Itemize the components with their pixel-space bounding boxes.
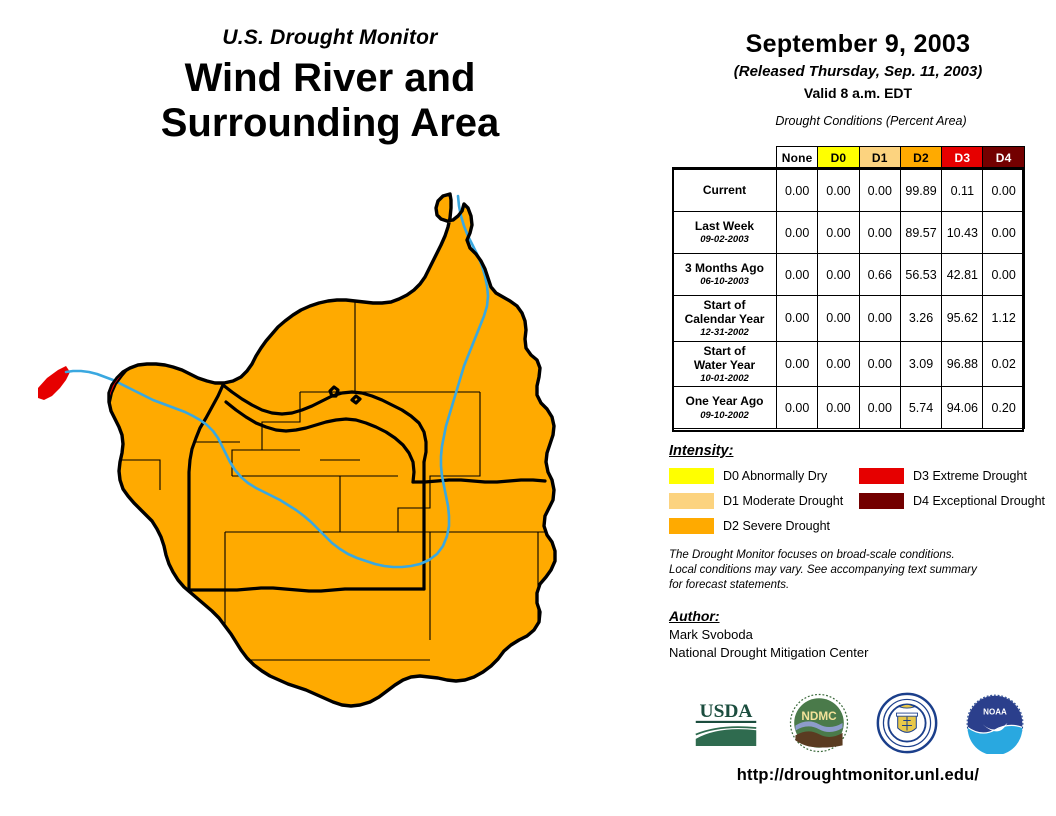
program-title: U.S. Drought Monitor [0,26,660,50]
cell-current-d2: 99.89 [900,170,941,212]
drought-conditions-table-wrap: None D0 D1 D2 D3 D4 Current 0.00 0.00 0.… [672,146,1024,429]
cell-wateryear-d1: 0.00 [859,341,900,387]
disclaimer-text: The Drought Monitor focuses on broad-sca… [669,548,1056,594]
author-title: Author: [669,608,1056,624]
cell-calyear-d1: 0.00 [859,296,900,342]
noaa-logo: NOAA [964,692,1026,754]
column-header-d4: D4 [983,147,1024,170]
cell-3months-d3: 42.81 [942,254,983,296]
table-row: Start of Calendar Year 12-31-2002 0.00 0… [673,296,1025,342]
author-organization: National Drought Mitigation Center [669,645,1056,660]
ndmc-logo: NDMC [788,692,850,754]
legend-item-d2: D2 Severe Drought [669,515,859,536]
cell-lastweek-d2: 89.57 [900,212,941,254]
cell-3months-d0: 0.00 [818,254,859,296]
legend-item-d0: D0 Abnormally Dry [669,465,859,486]
doc-seal-logo [876,692,938,754]
table-row: Current 0.00 0.00 0.00 99.89 0.11 0.00 [673,170,1025,212]
legend-label-d1: D1 Moderate Drought [723,494,843,508]
row-label-date: 12-31-2002 [677,327,772,338]
legend-label-d2: D2 Severe Drought [723,519,830,533]
cell-3months-none: 0.00 [777,254,818,296]
cell-lastweek-d4: 0.00 [983,212,1024,254]
drought-map [0,160,660,720]
cell-oneyear-d4: 0.20 [983,387,1024,429]
row-label-text: One Year Ago [685,394,763,408]
author-name: Mark Svoboda [669,627,1056,642]
cell-3months-d1: 0.66 [859,254,900,296]
date-block: September 9, 2003 (Released Thursday, Se… [660,0,1056,101]
legend-grid: D0 Abnormally Dry D3 Extreme Drought D1 … [669,465,1056,536]
row-label-start-calendar-year: Start of Calendar Year 12-31-2002 [673,296,777,342]
release-date: (Released Thursday, Sep. 11, 2003) [660,63,1056,80]
drought-conditions-table: None D0 D1 D2 D3 D4 Current 0.00 0.00 0.… [672,146,1025,429]
page-title: Wind River and Surrounding Area [0,56,660,146]
title-block: U.S. Drought Monitor Wind River and Surr… [0,26,660,146]
cell-wateryear-d4: 0.02 [983,341,1024,387]
cell-lastweek-d1: 0.00 [859,212,900,254]
cell-current-d4: 0.00 [983,170,1024,212]
cell-current-d1: 0.00 [859,170,900,212]
legend-spacer [859,515,1056,536]
map-artwork [0,160,660,720]
region-title-line2: Surrounding Area [0,101,660,146]
column-header-none: None [777,147,818,170]
row-label-text-line1: Start of [704,344,746,358]
cell-calyear-d4: 1.12 [983,296,1024,342]
legend-swatch-d0 [669,468,714,484]
header-corner-blank [673,147,777,170]
row-label-date: 09-02-2003 [677,234,772,245]
logo-row: USDA NDMC NOAA [660,690,1056,756]
row-label-current: Current [673,170,777,212]
cell-wateryear-d3: 96.88 [942,341,983,387]
row-label-date: 06-10-2003 [677,276,772,287]
cell-oneyear-none: 0.00 [777,387,818,429]
website-url[interactable]: http://droughtmonitor.unl.edu/ [660,766,1056,785]
column-header-d0: D0 [818,147,859,170]
row-label-text-line2: Calendar Year [685,312,765,326]
table-row: 3 Months Ago 06-10-2003 0.00 0.00 0.66 5… [673,254,1025,296]
table-header-row: None D0 D1 D2 D3 D4 [673,147,1025,170]
cell-lastweek-none: 0.00 [777,212,818,254]
column-header-d1: D1 [859,147,900,170]
cell-3months-d4: 0.00 [983,254,1024,296]
legend-item-d3: D3 Extreme Drought [859,465,1056,486]
row-label-date: 10-01-2002 [677,373,772,384]
legend-item-d4: D4 Exceptional Drought [859,490,1056,511]
cell-current-d0: 0.00 [818,170,859,212]
cell-oneyear-d0: 0.00 [818,387,859,429]
region-title-line1: Wind River and [0,56,660,101]
cell-lastweek-d0: 0.00 [818,212,859,254]
table-caption: Drought Conditions (Percent Area) [660,114,1056,128]
cell-current-none: 0.00 [777,170,818,212]
legend-label-d0: D0 Abnormally Dry [723,469,827,483]
legend-swatch-d3 [859,468,904,484]
legend-swatch-d4 [859,493,904,509]
row-label-text: Current [703,183,746,197]
cell-oneyear-d3: 94.06 [942,387,983,429]
noaa-logo-text: NOAA [983,707,1007,716]
valid-time: Valid 8 a.m. EDT [660,85,1056,101]
cell-wateryear-d0: 0.00 [818,341,859,387]
usda-logo-text: USDA [700,701,753,722]
column-header-d2: D2 [900,147,941,170]
cell-oneyear-d2: 5.74 [900,387,941,429]
legend-item-d1: D1 Moderate Drought [669,490,859,511]
row-label-text-line2: Water Year [694,358,755,372]
legend-label-d4: D4 Exceptional Drought [913,494,1045,508]
map-svg [0,160,660,720]
legend-swatch-d2 [669,518,714,534]
row-label-date: 09-10-2002 [677,410,772,421]
disclaimer-line3: for forecast statements. [669,578,1056,593]
cell-calyear-d3: 95.62 [942,296,983,342]
info-panel: September 9, 2003 (Released Thursday, Se… [660,0,1056,816]
cell-calyear-d2: 3.26 [900,296,941,342]
cell-current-d3: 0.11 [942,170,983,212]
intensity-title: Intensity: [669,443,1056,459]
cell-calyear-none: 0.00 [777,296,818,342]
legend-label-d3: D3 Extreme Drought [913,469,1027,483]
disclaimer-line2: Local conditions may vary. See accompany… [669,563,1056,578]
row-label-text: 3 Months Ago [685,261,764,275]
cell-oneyear-d1: 0.00 [859,387,900,429]
author-block: Author: Mark Svoboda National Drought Mi… [669,608,1056,660]
doc-chief [896,713,917,716]
disclaimer-line1: The Drought Monitor focuses on broad-sca… [669,548,1056,563]
cell-wateryear-none: 0.00 [777,341,818,387]
ndmc-logo-text: NDMC [801,710,837,723]
row-label-3-months-ago: 3 Months Ago 06-10-2003 [673,254,777,296]
row-label-last-week: Last Week 09-02-2003 [673,212,777,254]
table-row: One Year Ago 09-10-2002 0.00 0.00 0.00 5… [673,387,1025,429]
cell-calyear-d0: 0.00 [818,296,859,342]
cell-lastweek-d3: 10.43 [942,212,983,254]
column-header-d3: D3 [942,147,983,170]
cell-wateryear-d2: 3.09 [900,341,941,387]
table-row: Last Week 09-02-2003 0.00 0.00 0.00 89.5… [673,212,1025,254]
row-label-text: Last Week [695,219,754,233]
report-date: September 9, 2003 [660,30,1056,59]
usda-rule [696,721,756,723]
row-label-one-year-ago: One Year Ago 09-10-2002 [673,387,777,429]
usda-logo: USDA [690,697,762,749]
row-label-start-water-year: Start of Water Year 10-01-2002 [673,341,777,387]
table-row: Start of Water Year 10-01-2002 0.00 0.00… [673,341,1025,387]
intensity-legend: Intensity: D0 Abnormally Dry D3 Extreme … [669,443,1056,594]
legend-swatch-d1 [669,493,714,509]
cell-3months-d2: 56.53 [900,254,941,296]
row-label-text-line1: Start of [704,298,746,312]
